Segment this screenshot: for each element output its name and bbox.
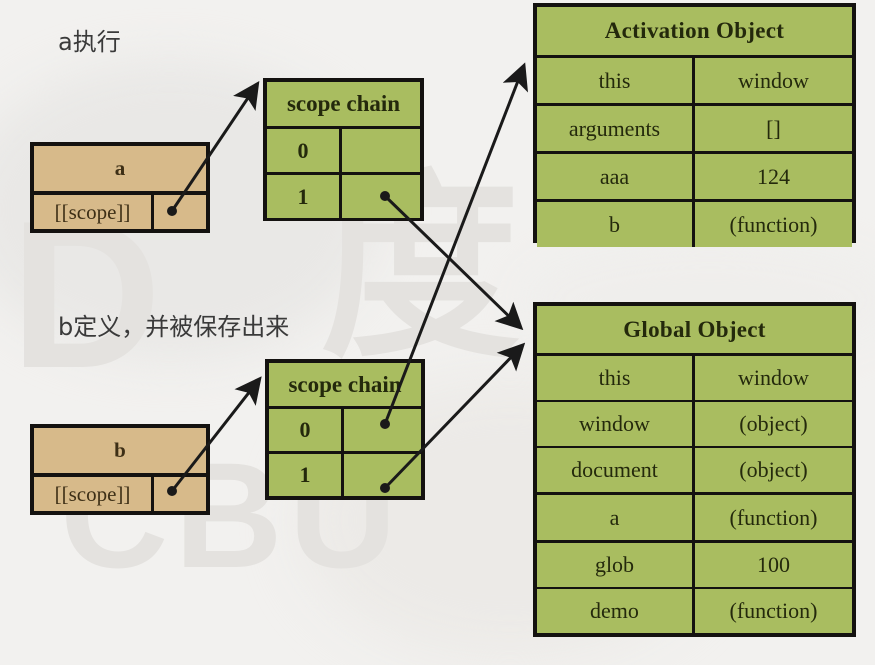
scope-chain-a-value-1 bbox=[342, 175, 420, 218]
global-object-title: Global Object bbox=[537, 306, 852, 353]
scope-chain-b-title: scope chain bbox=[269, 363, 421, 406]
function-b-name: b bbox=[34, 428, 206, 473]
function-b-scope-label: [[scope]] bbox=[34, 477, 151, 511]
function-a-scope-label: [[scope]] bbox=[34, 195, 151, 229]
scope-chain-a-row-1: 1 bbox=[267, 175, 420, 218]
global-object-row: this window bbox=[537, 356, 852, 400]
function-a-header-row: a bbox=[34, 146, 206, 191]
global-object-row: document (object) bbox=[537, 448, 852, 492]
activation-object-value-1: [] bbox=[695, 106, 852, 151]
function-a-scope-row: [[scope]] bbox=[34, 195, 206, 229]
scope-chain-b-box: scope chain 0 1 bbox=[265, 359, 425, 500]
activation-object-row: aaa 124 bbox=[537, 154, 852, 199]
caption-b-define: b定义，并被保存出来 bbox=[58, 307, 289, 342]
global-object-row: window (object) bbox=[537, 402, 852, 446]
global-object-value-2: (object) bbox=[695, 448, 852, 492]
function-a-scope-pointer bbox=[154, 195, 206, 229]
scope-chain-a-value-0 bbox=[342, 129, 420, 172]
scope-chain-b-row-0: 0 bbox=[269, 409, 421, 451]
global-object-key-3: a bbox=[537, 495, 692, 540]
activation-object-key-3: b bbox=[537, 202, 692, 247]
caption-a-execute: a执行 bbox=[58, 22, 121, 57]
global-object-key-1: window bbox=[537, 402, 692, 446]
activation-object-box: Activation Object this window arguments … bbox=[533, 3, 856, 243]
global-object-value-1: (object) bbox=[695, 402, 852, 446]
activation-object-key-1: arguments bbox=[537, 106, 692, 151]
global-object-value-4: 100 bbox=[695, 543, 852, 587]
scope-chain-b-index-1: 1 bbox=[269, 454, 341, 496]
activation-object-value-0: window bbox=[695, 58, 852, 103]
global-object-row: a (function) bbox=[537, 495, 852, 540]
activation-object-row: b (function) bbox=[537, 202, 852, 247]
global-object-title-row: Global Object bbox=[537, 306, 852, 353]
function-b-scope-row: [[scope]] bbox=[34, 477, 206, 511]
activation-object-key-2: aaa bbox=[537, 154, 692, 199]
scope-chain-b-index-0: 0 bbox=[269, 409, 341, 451]
activation-object-value-2: 124 bbox=[695, 154, 852, 199]
activation-object-row: this window bbox=[537, 58, 852, 103]
scope-chain-b-title-row: scope chain bbox=[269, 363, 421, 406]
activation-object-title: Activation Object bbox=[537, 7, 852, 55]
function-b-header-row: b bbox=[34, 428, 206, 473]
scope-chain-a-index-0: 0 bbox=[267, 129, 339, 172]
scope-chain-a-box: scope chain 0 1 bbox=[263, 78, 424, 221]
global-object-key-5: demo bbox=[537, 589, 692, 633]
global-object-row: demo (function) bbox=[537, 589, 852, 633]
global-object-key-0: this bbox=[537, 356, 692, 400]
global-object-value-3: (function) bbox=[695, 495, 852, 540]
scope-chain-b-value-1 bbox=[344, 454, 421, 496]
scope-chain-a-index-1: 1 bbox=[267, 175, 339, 218]
scope-chain-a-title-row: scope chain bbox=[267, 82, 420, 126]
function-a-box: a [[scope]] bbox=[30, 142, 210, 233]
activation-object-title-row: Activation Object bbox=[537, 7, 852, 55]
scope-chain-a-title: scope chain bbox=[267, 82, 420, 126]
function-b-scope-pointer bbox=[154, 477, 206, 511]
scope-chain-b-value-0 bbox=[344, 409, 421, 451]
activation-object-key-0: this bbox=[537, 58, 692, 103]
diagram-canvas: D 度 CBU cs9b9233_Bq a执行 b定义，并被保存出来 a [[s… bbox=[0, 0, 875, 665]
global-object-key-4: glob bbox=[537, 543, 692, 587]
function-a-name: a bbox=[34, 146, 206, 191]
global-object-value-5: (function) bbox=[695, 589, 852, 633]
global-object-row: glob 100 bbox=[537, 543, 852, 587]
function-b-box: b [[scope]] bbox=[30, 424, 210, 515]
global-object-value-0: window bbox=[695, 356, 852, 400]
scope-chain-b-row-1: 1 bbox=[269, 454, 421, 496]
scope-chain-a-row-0: 0 bbox=[267, 129, 420, 172]
global-object-box: Global Object this window window (object… bbox=[533, 302, 856, 637]
global-object-key-2: document bbox=[537, 448, 692, 492]
activation-object-row: arguments [] bbox=[537, 106, 852, 151]
activation-object-value-3: (function) bbox=[695, 202, 852, 247]
